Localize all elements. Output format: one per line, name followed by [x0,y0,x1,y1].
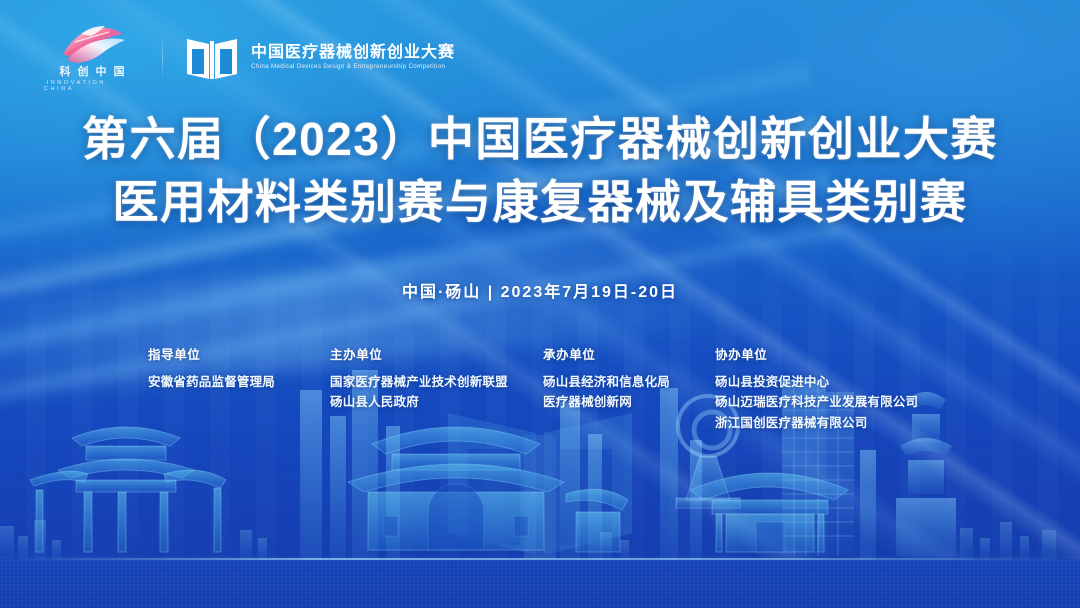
innovation-china-cn: 科创中国 [53,66,132,78]
sponsor-heading: 指导单位 [148,344,330,363]
sponsor-heading: 协办单位 [715,344,985,363]
phoenix-bird-icon [55,24,129,64]
title-block: 第六届（2023）中国医疗器械创新创业大赛 医用材料类别赛与康复器械及辅具类别赛 [0,108,1080,235]
page-title-line-2: 医用材料类别赛与康复器械及辅具类别赛 [0,171,1080,234]
sponsor-item: 浙江国创医疗器械有限公司 [715,413,985,433]
logo-bar: 科创中国 INNOVATION CHINA 中国医疗器械创新创业大赛 China… [44,24,455,92]
page-title-line-1: 第六届（2023）中国医疗器械创新创业大赛 [0,108,1080,171]
competition-logo: 中国医疗器械创新创业大赛 China Medical Devices Desig… [185,35,455,81]
sponsor-column-host: 主办单位 国家医疗器械产业技术创新联盟 砀山县人民政府 [330,344,543,433]
innovation-china-en: INNOVATION CHINA [44,80,140,92]
sponsor-column-coorganizer: 协办单位 砀山县投资促进中心 砀山迈瑞医疗科技产业发展有限公司 浙江国创医疗器械… [715,344,985,433]
sponsor-item: 砀山县经济和信息化局 [543,372,715,392]
competition-logo-en: China Medical Devices Design & Entrepren… [251,64,455,70]
logo-divider [162,36,163,80]
sponsor-column-organizer: 承办单位 砀山县经济和信息化局 医疗器械创新网 [543,344,715,433]
innovation-china-logo: 科创中国 INNOVATION CHINA [44,24,140,92]
sponsor-item: 国家医疗器械产业技术创新联盟 [330,372,543,392]
sponsor-heading: 承办单位 [543,344,715,363]
sponsor-heading: 主办单位 [330,344,543,363]
competition-logo-cn: 中国医疗器械创新创业大赛 [251,45,455,61]
sponsor-column-guidance: 指导单位 安徽省药品监督管理局 [148,344,330,433]
sponsor-item: 医疗器械创新网 [543,392,715,412]
dot-grid-texture [0,555,1080,608]
event-location-date: 中国·砀山 | 2023年7月19日-20日 [0,278,1080,302]
paifang-archway-left [30,427,226,552]
sponsor-item: 砀山迈瑞医疗科技产业发展有限公司 [715,392,985,412]
open-book-door-icon [185,35,239,81]
sponsor-item: 砀山县人民政府 [330,392,543,412]
event-banner: 科创中国 INNOVATION CHINA 中国医疗器械创新创业大赛 China… [0,0,1080,608]
sponsor-organizations: 指导单位 安徽省药品监督管理局 主办单位 国家医疗器械产业技术创新联盟 砀山县人… [148,344,985,433]
sponsor-item: 砀山县投资促进中心 [715,372,985,392]
sponsor-item: 安徽省药品监督管理局 [148,372,330,392]
